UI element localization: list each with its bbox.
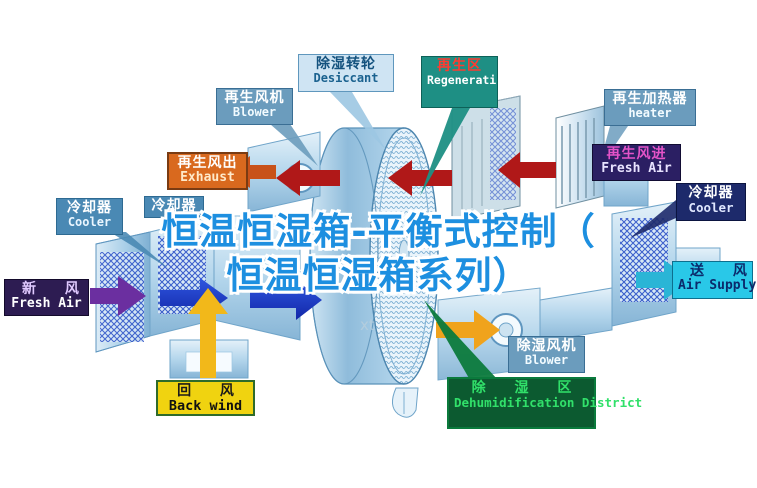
label-desiccant-wheel: 除湿转轮Desiccant: [298, 54, 394, 92]
overlay-title: 恒温恒湿箱-平衡式控制（ 恒温恒湿箱系列）: [0, 210, 757, 298]
label-regeneration-fresh-air-cn: 再生风进: [598, 147, 675, 162]
label-back-wind-cn: 回 风: [163, 384, 248, 399]
label-regeneration-blower-cn: 再生风机: [222, 91, 287, 106]
label-dehumidify-blower-cn: 除湿风机: [514, 339, 579, 354]
label-cooler-right-cn: 冷却器: [682, 186, 740, 201]
label-exhaust-air-en: Exhaust: [174, 171, 241, 185]
watermark-text: xt: [360, 316, 375, 334]
label-dehumidification-district-en: Dehumidification District: [454, 396, 589, 409]
label-fresh-air-inlet-en: Fresh Air: [10, 297, 83, 311]
label-dehumidification-district: 除 湿 区Dehumidification District: [447, 377, 596, 429]
label-back-wind-en: Back wind: [163, 399, 248, 413]
diagram-canvas: xt: [0, 0, 757, 488]
label-exhaust-air: 再生风出Exhaust: [167, 152, 248, 190]
label-regeneration-heater-cn: 再生加热器: [610, 92, 690, 107]
label-regeneration-fresh-air-en: Fresh Air: [598, 162, 675, 176]
label-regeneration-area-en: Regenerati on Area: [427, 74, 492, 86]
drain-pan: [392, 388, 418, 417]
label-regeneration-blower: 再生风机Blower: [216, 88, 293, 125]
label-desiccant-wheel-cn: 除湿转轮: [304, 57, 388, 72]
label-regeneration-area-cn: 再生区: [427, 59, 492, 74]
overlay-title-line-1: 恒温恒湿箱-平衡式控制（: [0, 210, 757, 254]
label-dehumidify-blower-en: Blower: [514, 354, 579, 367]
label-regeneration-heater: 再生加热器heater: [604, 89, 696, 126]
label-regeneration-area: 再生区Regenerati on Area: [421, 56, 498, 108]
label-regeneration-blower-en: Blower: [222, 106, 287, 119]
label-dehumidification-district-cn: 除 湿 区: [454, 381, 589, 396]
label-regeneration-fresh-air: 再生风进Fresh Air: [592, 144, 681, 181]
overlay-title-line-2: 恒温恒湿箱系列）: [0, 254, 757, 298]
label-dehumidify-blower: 除湿风机Blower: [508, 336, 585, 373]
label-back-wind: 回 风Back wind: [156, 380, 255, 416]
label-exhaust-air-cn: 再生风出: [174, 156, 241, 171]
label-regeneration-heater-en: heater: [610, 107, 690, 120]
label-desiccant-wheel-en: Desiccant: [304, 72, 388, 85]
